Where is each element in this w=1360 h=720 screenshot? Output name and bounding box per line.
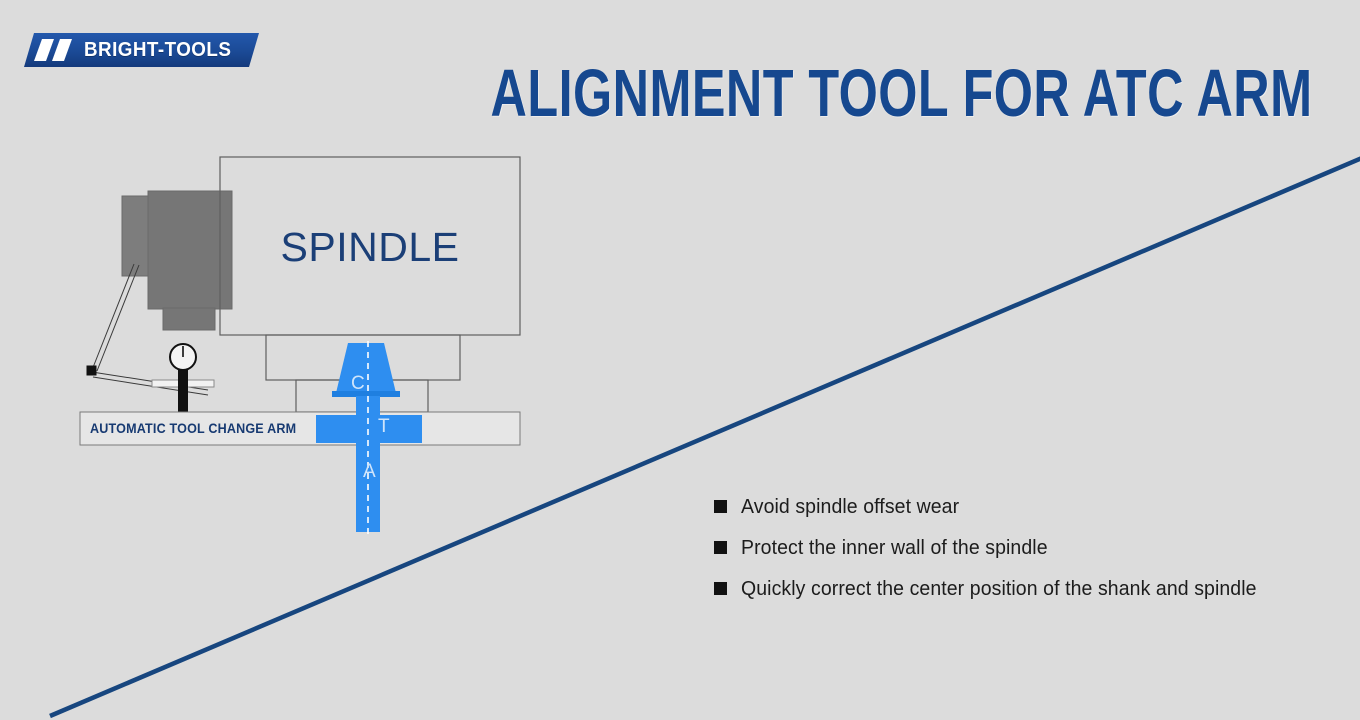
tool-cone-letter: C	[351, 373, 365, 395]
tool-shaft-letter: A	[363, 461, 376, 483]
square-bullet-icon	[714, 500, 727, 513]
machine-head-foot	[163, 308, 215, 330]
tool-collar-letter: T	[378, 416, 390, 438]
diagram-vector	[0, 0, 700, 620]
square-bullet-icon	[714, 582, 727, 595]
benefit-text: Protect the inner wall of the spindle	[741, 536, 1048, 560]
slide-canvas: BRIGHT-TOOLS ALIGNMENT TOOL FOR ATC ARM	[0, 0, 1360, 720]
benefits-list: Avoid spindle offset wear Protect the in…	[714, 486, 1334, 609]
benefit-text: Quickly correct the center position of t…	[741, 577, 1257, 601]
list-item: Protect the inner wall of the spindle	[714, 527, 1334, 568]
alignment-tool	[316, 341, 422, 534]
arm-pivot-joint	[87, 366, 96, 375]
technical-diagram: SPINDLE AUTOMATIC TOOL CHANGE ARM C T A	[0, 0, 700, 620]
machine-head-side-block	[122, 196, 150, 276]
spindle-label: SPINDLE	[220, 224, 520, 271]
square-bullet-icon	[714, 541, 727, 554]
tool-taper-cone	[336, 343, 396, 393]
list-item: Quickly correct the center position of t…	[714, 568, 1334, 609]
tool-collar	[316, 415, 422, 443]
benefit-text: Avoid spindle offset wear	[741, 495, 959, 519]
atc-arm-label: AUTOMATIC TOOL CHANGE ARM	[90, 421, 296, 436]
list-item: Avoid spindle offset wear	[714, 486, 1334, 527]
